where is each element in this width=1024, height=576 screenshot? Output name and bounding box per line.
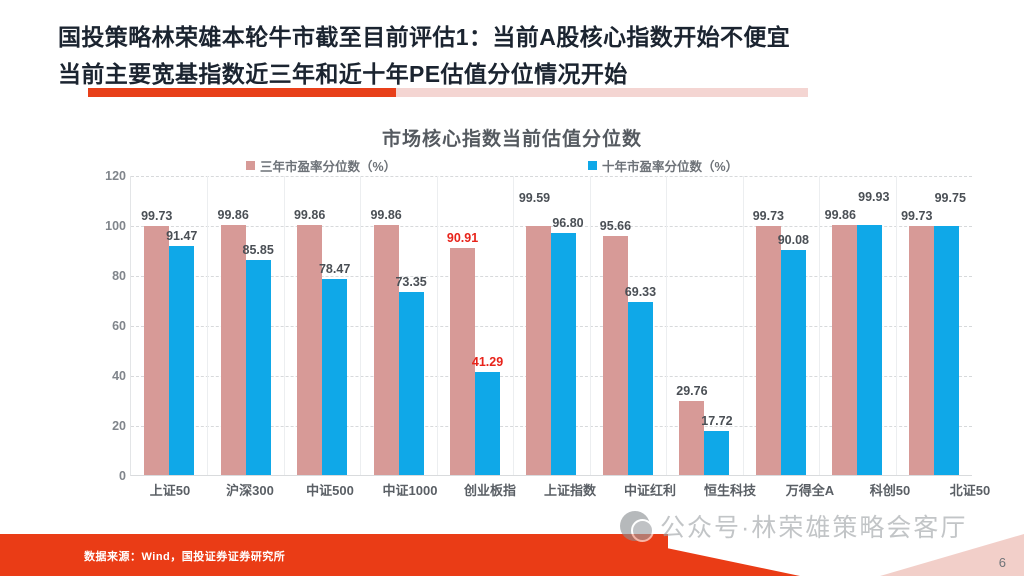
x-axis-label: 北证50	[930, 480, 1010, 504]
bar-ten-year[interactable]: 41.29	[475, 372, 500, 475]
bar-group[interactable]: 99.8699.93	[819, 176, 895, 475]
bar-value-label: 99.86	[218, 209, 249, 222]
x-axis-label: 上证指数	[530, 480, 610, 504]
bar-value-label: 96.80	[552, 217, 583, 230]
y-axis-tick: 0	[92, 469, 126, 483]
title-underline-red	[88, 88, 396, 97]
bar-value-label: 99.93	[858, 191, 889, 204]
page-number: 6	[999, 555, 1006, 570]
bar-ten-year[interactable]: 96.80	[551, 233, 576, 475]
page-title-line-1: 国投策略林荣雄本轮牛市截至目前评估1：当前A股核心指数开始不便宜	[58, 18, 790, 52]
chart-legend: 三年市盈率分位数（%） 十年市盈率分位数（%）	[0, 156, 1024, 174]
bar-value-label: 90.08	[778, 234, 809, 247]
bar-value-label: 78.47	[319, 263, 350, 276]
bar-group[interactable]: 90.9141.29	[437, 176, 513, 475]
slide-header: 国投策略林荣雄本轮牛市截至目前评估1：当前A股核心指数开始不便宜 当前主要宽基指…	[0, 0, 1024, 110]
bar-ten-year[interactable]: 99.93	[857, 225, 882, 475]
y-axis: 020406080100120	[92, 176, 126, 476]
y-axis-tick: 80	[92, 269, 126, 283]
bar-value-label: 73.35	[395, 276, 426, 289]
bar-value-label: 29.76	[676, 385, 707, 398]
bar-three-year[interactable]: 99.73	[909, 226, 934, 475]
legend-swatch-ten-year	[588, 161, 597, 170]
y-axis-tick: 40	[92, 369, 126, 383]
x-axis-label: 万得全A	[770, 480, 850, 504]
bar-group[interactable]: 99.7391.47	[131, 176, 207, 475]
bar-group[interactable]: 99.8685.85	[207, 176, 283, 475]
x-axis-label: 创业板指	[450, 480, 530, 504]
page-title-line-2: 当前主要宽基指数近三年和近十年PE估值分位情况开始	[58, 55, 628, 89]
bar-value-label: 17.72	[701, 415, 732, 428]
chart-title: 市场核心指数当前估值分位数	[0, 124, 1024, 151]
slide-footer: 数据来源：Wind，国投证券证券研究所	[0, 534, 1024, 576]
plot-area: 99.7391.4799.8685.8599.8678.4799.8673.35…	[130, 176, 972, 476]
bar-value-label: 99.86	[294, 209, 325, 222]
bar-group[interactable]: 95.6669.33	[590, 176, 666, 475]
x-axis-label: 科创50	[850, 480, 930, 504]
bar-group[interactable]: 29.7617.72	[666, 176, 742, 475]
bar-value-label: 99.73	[901, 210, 932, 223]
chart-container: 市场核心指数当前估值分位数 三年市盈率分位数（%） 十年市盈率分位数（%） 02…	[0, 112, 1024, 512]
bar-ten-year[interactable]: 85.85	[246, 260, 271, 475]
legend-item-ten-year: 十年市盈率分位数（%）	[588, 156, 738, 175]
bar-group[interactable]: 99.7390.08	[743, 176, 819, 475]
bar-group[interactable]: 99.7399.75	[896, 176, 972, 475]
slide-root: 国投策略林荣雄本轮牛市截至目前评估1：当前A股核心指数开始不便宜 当前主要宽基指…	[0, 0, 1024, 576]
bar-three-year[interactable]: 99.73	[144, 226, 169, 475]
bar-group[interactable]: 99.8678.47	[284, 176, 360, 475]
bar-value-label: 99.73	[141, 210, 172, 223]
legend-swatch-three-year	[246, 161, 255, 170]
data-source-label: 数据来源：Wind，国投证券证券研究所	[84, 548, 285, 564]
plot-area-wrapper: 020406080100120 99.7391.4799.8685.8599.8…	[92, 176, 972, 494]
y-axis-tick: 60	[92, 319, 126, 333]
bar-ten-year[interactable]: 17.72	[704, 431, 729, 475]
x-axis: 上证50沪深300中证500中证1000创业板指上证指数中证红利恒生科技万得全A…	[130, 480, 1010, 504]
x-axis-label: 中证1000	[370, 480, 450, 504]
bar-three-year[interactable]: 99.86	[221, 225, 246, 475]
bar-value-label: 91.47	[166, 230, 197, 243]
legend-label-ten-year: 十年市盈率分位数（%）	[602, 156, 738, 175]
bar-ten-year[interactable]: 73.35	[399, 292, 424, 475]
bar-ten-year[interactable]: 91.47	[169, 246, 194, 475]
bar-ten-year[interactable]: 99.75	[934, 226, 959, 475]
bar-value-label: 99.73	[753, 210, 784, 223]
bar-three-year[interactable]: 99.86	[374, 225, 399, 475]
bar-three-year[interactable]: 29.76	[679, 401, 704, 475]
y-axis-tick: 20	[92, 419, 126, 433]
bar-ten-year[interactable]: 78.47	[322, 279, 347, 475]
x-axis-label: 上证50	[130, 480, 210, 504]
bar-three-year[interactable]: 99.86	[832, 225, 857, 475]
bar-value-label: 95.66	[600, 220, 631, 233]
bar-three-year[interactable]: 99.73	[756, 226, 781, 475]
x-axis-label: 恒生科技	[690, 480, 770, 504]
bar-value-label: 99.59	[519, 192, 550, 205]
bar-groups: 99.7391.4799.8685.8599.8678.4799.8673.35…	[131, 176, 972, 475]
x-axis-label: 中证红利	[610, 480, 690, 504]
bar-ten-year[interactable]: 69.33	[628, 302, 653, 475]
y-axis-tick: 120	[92, 169, 126, 183]
bar-value-label: 41.29	[472, 356, 503, 369]
legend-item-three-year: 三年市盈率分位数（%）	[246, 156, 396, 175]
bar-three-year[interactable]: 99.59	[526, 226, 551, 475]
bar-value-label: 99.86	[370, 209, 401, 222]
bar-value-label: 99.86	[825, 209, 856, 222]
bar-value-label: 99.75	[935, 192, 966, 205]
legend-label-three-year: 三年市盈率分位数（%）	[260, 156, 396, 175]
x-axis-label: 中证500	[290, 480, 370, 504]
bar-value-label: 85.85	[243, 244, 274, 257]
bar-value-label: 90.91	[447, 232, 478, 245]
bar-group[interactable]: 99.5996.80	[513, 176, 589, 475]
bar-three-year[interactable]: 95.66	[603, 236, 628, 475]
y-axis-tick: 100	[92, 219, 126, 233]
x-axis-label: 沪深300	[210, 480, 290, 504]
bar-group[interactable]: 99.8673.35	[360, 176, 436, 475]
bar-value-label: 69.33	[625, 286, 656, 299]
bar-ten-year[interactable]: 90.08	[781, 250, 806, 475]
